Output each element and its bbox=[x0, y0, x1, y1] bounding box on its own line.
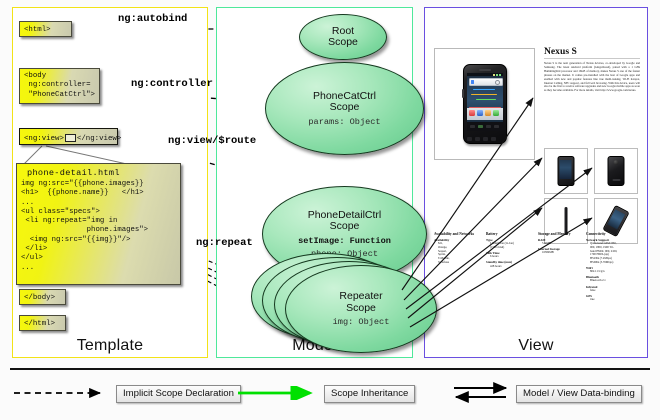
spec-column-availability: Availability and Networks Availability M… bbox=[434, 232, 484, 264]
spec-column-connectivity: Connectivity Network Support Quad-band G… bbox=[586, 232, 640, 302]
legend-glyph-inheritance bbox=[236, 386, 322, 400]
phone-hero-image bbox=[463, 64, 507, 144]
legend-item-implicit-scope: Implicit Scope Declaration bbox=[116, 383, 241, 403]
note-filename: phone-detail.html bbox=[17, 164, 180, 180]
legend-label-scope-inheritance: Scope Inheritance bbox=[324, 385, 415, 403]
code-box-ng-view: <ng:view></ng:view> bbox=[19, 128, 118, 145]
label-ng-view-route: ng:view/$route bbox=[168, 135, 256, 147]
spec-table: Availability and Networks Availability M… bbox=[434, 232, 640, 304]
diagram-stage: Template Model View <html> <body ng:cont… bbox=[0, 0, 660, 420]
legend-item-data-binding: Model / View Data-binding bbox=[516, 383, 642, 403]
phone-nav-key-3 bbox=[486, 125, 491, 129]
legend-label-data-binding: Model / View Data-binding bbox=[516, 385, 642, 403]
scope-repeater-line2: Scope bbox=[346, 303, 376, 315]
code-box-body-open: <body ng:controller= "PhoneCatCtrl"> bbox=[19, 68, 100, 104]
panel-title-view: View bbox=[425, 337, 647, 355]
spec-value: HSDPA (5.76Mbps) bbox=[586, 261, 640, 265]
panel-title-template: Template bbox=[13, 337, 207, 355]
label-ng-repeat: ng:repeat bbox=[196, 237, 253, 249]
legend: Implicit Scope Declaration Scope Inherit… bbox=[0, 366, 660, 420]
phone-front-icon bbox=[558, 156, 575, 186]
product-description: Nexus S is the next generation of Nexus … bbox=[544, 62, 640, 93]
spec-value: Vodafone bbox=[434, 261, 484, 265]
view-rendered-page: Nexus S Nexus S is the next generation o… bbox=[434, 44, 640, 299]
hero-image-frame bbox=[434, 48, 535, 160]
spec-value: 512MB bbox=[538, 242, 588, 246]
phone-app-dock bbox=[467, 108, 503, 120]
legend-glyph-implicit bbox=[12, 386, 112, 400]
spec-header: Storage and Memory bbox=[538, 232, 588, 236]
phone-status-bar bbox=[467, 73, 503, 76]
phone-search-widget bbox=[469, 78, 503, 86]
phone-app-icon-1 bbox=[469, 110, 475, 116]
code-box-html-close: </html> bbox=[19, 315, 66, 331]
scope-root-line2: Scope bbox=[328, 37, 358, 49]
spec-column-battery: Battery Type Lithium Ion (Li-Ion) (1500 … bbox=[486, 232, 536, 268]
sticky-note-phone-detail: phone-detail.html img ng:src="{{phone.im… bbox=[16, 163, 181, 285]
phone-side-button bbox=[462, 89, 464, 98]
phone-app-icon-3 bbox=[485, 110, 491, 116]
spec-value: 802.11 b/g/n bbox=[586, 270, 640, 274]
scope-phonecatctrl-line2: Scope bbox=[330, 102, 360, 114]
spec-value: false bbox=[586, 289, 640, 293]
phone-edge-icon bbox=[565, 207, 568, 235]
legend-item-scope-inheritance: Scope Inheritance bbox=[324, 383, 415, 403]
spec-value: Bluetooth 2.1 bbox=[586, 279, 640, 283]
legend-glyph-data-binding bbox=[452, 381, 514, 405]
spec-value: 16384MB bbox=[538, 251, 588, 255]
product-title: Nexus S bbox=[544, 46, 577, 57]
spec-value: 428 hours bbox=[486, 265, 536, 269]
phone-app-icon-4 bbox=[493, 110, 499, 116]
ng-view-open-tag: <ng:view> bbox=[24, 134, 64, 142]
spec-header: Battery bbox=[486, 232, 536, 236]
phone-nav-key-2 bbox=[478, 125, 483, 129]
phone-back-icon bbox=[608, 156, 625, 186]
phone-wallpaper-line-3 bbox=[476, 99, 496, 100]
phone-wallpaper-line-2 bbox=[471, 94, 497, 95]
thumbnail-phone-front[interactable] bbox=[544, 148, 588, 194]
code-box-body-close: </body> bbox=[19, 289, 66, 305]
thumbnail-phone-back[interactable] bbox=[594, 148, 638, 194]
scope-phonecatctrl-attr-params: params: Object bbox=[308, 117, 380, 127]
phone-app-icon-2 bbox=[477, 110, 483, 116]
phone-earpiece-icon bbox=[479, 69, 491, 71]
spec-header: Connectivity bbox=[586, 232, 640, 236]
legend-divider bbox=[10, 368, 650, 370]
spec-header: Availability and Networks bbox=[434, 232, 484, 236]
title-divider bbox=[544, 58, 640, 59]
scope-repeater-line1: Repeater bbox=[339, 291, 382, 303]
phone-nav-key-1 bbox=[470, 125, 475, 129]
scope-repeater-attr-img: img: Object bbox=[333, 317, 390, 327]
spec-column-storage: Storage and Memory RAM 512MB Internal St… bbox=[538, 232, 588, 255]
ng-view-close-tag: </ng:view> bbox=[77, 134, 121, 142]
note-code: img ng:src="{{phone.images}} <h1> {{phon… bbox=[17, 180, 180, 273]
label-ng-autobind: ng:autobind bbox=[118, 13, 187, 25]
spec-value: (1500 mAh) bbox=[486, 246, 536, 250]
scope-phonedetailctrl-line2: Scope bbox=[330, 221, 360, 233]
scope-phonedetailctrl-attr-setimage: setImage: Function bbox=[298, 236, 391, 246]
scope-root: Root Scope bbox=[299, 14, 387, 60]
phone-wallpaper-line-1 bbox=[473, 89, 495, 90]
ng-view-placeholder-icon bbox=[65, 134, 76, 142]
phone-nav-bar bbox=[467, 122, 503, 131]
label-ng-controller: ng:controller bbox=[131, 78, 213, 90]
scope-phonecatctrl: PhoneCatCtrl Scope params: Object bbox=[265, 62, 424, 155]
code-box-html-open: <html> bbox=[19, 21, 72, 37]
phone-screen bbox=[467, 73, 503, 131]
phone-nav-key-4 bbox=[494, 125, 499, 129]
spec-value: true bbox=[586, 298, 640, 302]
phone-hardware-keys bbox=[467, 137, 503, 142]
scope-repeater: Repeater Scope img: Object bbox=[285, 265, 437, 353]
spec-value: 6 hours bbox=[486, 255, 536, 259]
legend-label-implicit-scope: Implicit Scope Declaration bbox=[116, 385, 241, 403]
